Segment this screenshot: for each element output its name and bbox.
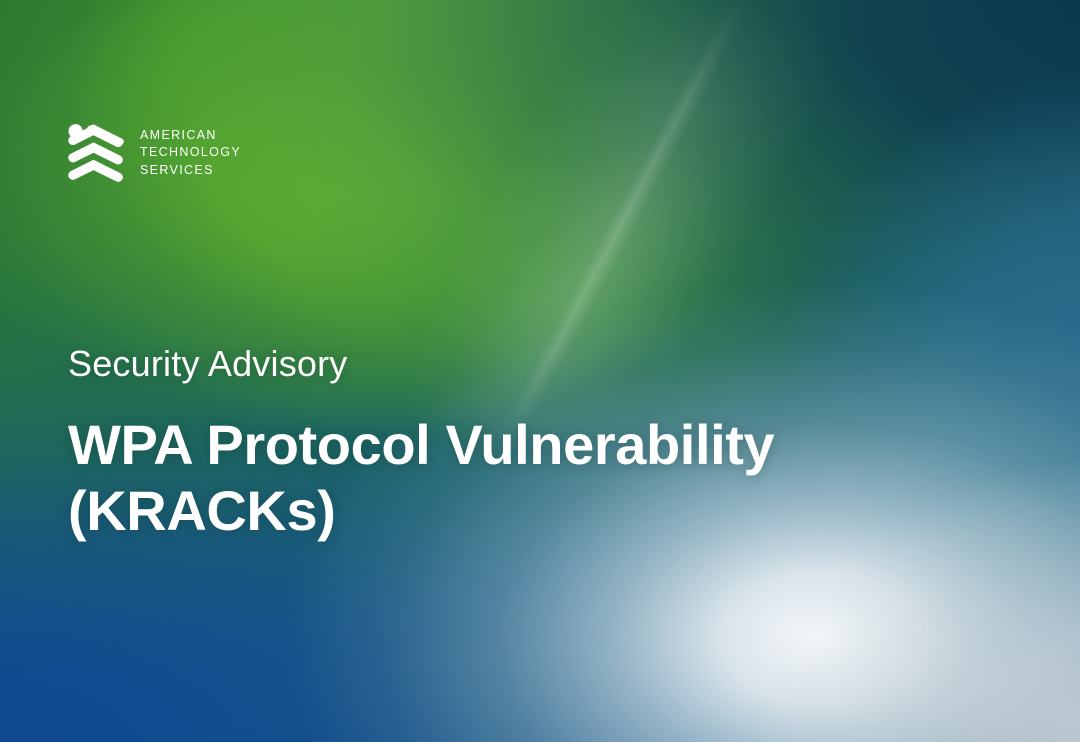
hero-text-block: Security Advisory WPA Protocol Vulnerabi…	[68, 343, 928, 543]
ats-chevron-stack-icon	[68, 120, 126, 184]
brand-wordmark: AMERICAN TECHNOLOGY SERVICES	[140, 127, 241, 177]
wordmark-line-2: TECHNOLOGY	[140, 145, 241, 159]
hero-title: WPA Protocol Vulnerability (KRACKs)	[68, 412, 868, 543]
advisory-hero-card: AMERICAN TECHNOLOGY SERVICES Security Ad…	[0, 0, 1080, 742]
brand-logo-lockup: AMERICAN TECHNOLOGY SERVICES	[68, 120, 241, 184]
wordmark-line-3: SERVICES	[140, 163, 241, 177]
hero-eyebrow: Security Advisory	[68, 343, 928, 384]
wordmark-line-1: AMERICAN	[140, 128, 241, 142]
